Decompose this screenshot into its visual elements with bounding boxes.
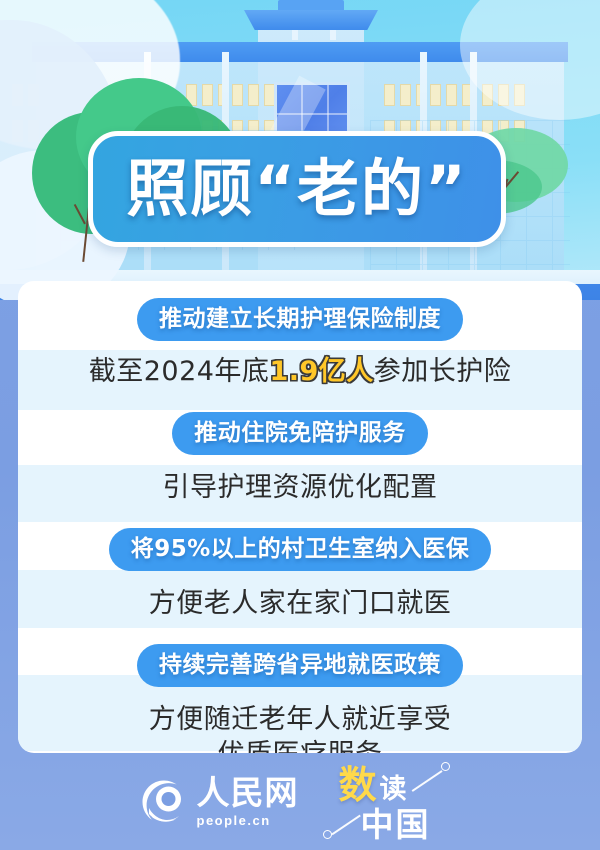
section-1-pill[interactable]: 推动建立长期护理保险制度 [137,298,463,341]
page-title: 照顾“老的” [126,158,468,220]
shudu-char-shu: 数 [339,766,377,804]
section-2-body: 引导护理资源优化配置 [18,455,582,506]
title-badge: 照顾“老的” [88,131,506,247]
roof-pin-right [330,30,336,40]
section-4-pill[interactable]: 持续完善跨省异地就医政策 [137,644,463,687]
section-4-pill-wrap: 持续完善跨省异地就医政策 [18,622,582,687]
section-1-body-post: 参加长护险 [374,356,512,387]
building-center-roof [244,10,378,30]
people-cn-logo[interactable]: 人民网 people.cn [140,776,299,828]
shudu-top-row: 数 读 [339,766,407,804]
people-wordmark: 人民网 people.cn [197,776,299,828]
footer-branding: 人民网 people.cn 数 读 中国 [0,753,600,850]
accent-dot-top [441,762,450,771]
section-3-pill-wrap: 将95%以上的村卫生室纳入医保 [18,506,582,571]
shudu-bottom-row: 中国 [361,808,431,841]
accent-line-bottom [331,814,360,834]
section-2-pill-wrap: 推动住院免陪护服务 [18,390,582,455]
accent-dot-bottom [323,830,332,839]
section-3-body-pre: 方便老人家在家门口就医 [149,588,452,619]
people-name-cn: 人民网 [197,776,299,809]
people-url: people.cn [197,813,271,828]
section-2: 推动住院免陪护服务 引导护理资源优化配置 [18,390,582,506]
section-1-highlight: 1.9亿人 [269,356,373,387]
section-list: 推动建立长期护理保险制度 截至2024年底1.9亿人参加长护险 推动住院免陪护服… [18,281,582,753]
infographic-poster: 照顾“老的” 推动建立长期护理保险制度 截至2024年底1.9亿人参加长护险 推… [0,0,600,850]
shudu-char-zhongguo: 中国 [361,808,431,841]
section-1-body: 截至2024年底1.9亿人参加长护险 [18,341,582,390]
section-3: 将95%以上的村卫生室纳入医保 方便老人家在家门口就医 [18,506,582,622]
roof-pin-left [292,30,298,40]
accent-line-top [411,770,442,791]
section-2-body-pre: 引导护理资源优化配置 [163,472,438,503]
section-3-body: 方便老人家在家门口就医 [18,571,582,622]
people-globe-icon [140,778,188,826]
shudu-zhongguo-logo[interactable]: 数 读 中国 [333,764,461,840]
section-1: 推动建立长期护理保险制度 截至2024年底1.9亿人参加长护险 [18,281,582,390]
section-4: 持续完善跨省异地就医政策 方便随迁老年人就近享受 优质医疗服务 [18,622,582,753]
section-3-pill[interactable]: 将95%以上的村卫生室纳入医保 [109,528,492,571]
shudu-char-du: 读 [380,776,407,803]
section-4-body-pre: 方便随迁老年人就近享受 [149,704,452,735]
section-4-body-line-2: 优质医疗服务 [18,738,582,753]
section-1-pill-wrap: 推动建立长期护理保险制度 [18,281,582,341]
content-card: 推动建立长期护理保险制度 截至2024年底1.9亿人参加长护险 推动住院免陪护服… [18,281,582,753]
window-row-right-upper-2 [430,84,473,106]
section-2-pill[interactable]: 推动住院免陪护服务 [172,412,428,455]
section-4-body-line-1: 方便随迁老年人就近享受 [18,687,582,738]
section-1-body-pre: 截至2024年底 [89,356,270,387]
section-4-body-post: 优质医疗服务 [218,739,383,753]
